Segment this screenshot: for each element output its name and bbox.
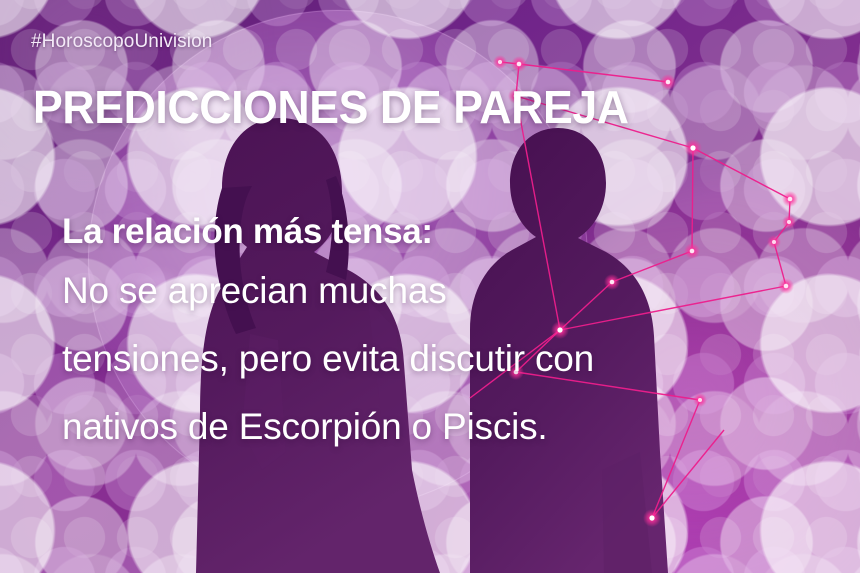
prediction-body: No se aprecian muchas tensiones, pero ev… (62, 257, 852, 461)
prediction-line: nativos de Escorpión o Piscis. (62, 393, 852, 461)
hashtag-label: #HoroscopoUnivision (31, 31, 212, 53)
prediction-line: tensiones, pero evita discutir con (62, 325, 852, 393)
prediction-lead-label: La relación más tensa: (62, 214, 852, 249)
horoscope-card: #HoroscopoUnivision PREDICCIONES DE PARE… (0, 0, 860, 573)
prediction-line: No se aprecian muchas (62, 257, 852, 325)
prediction-text-block: La relación más tensa: No se aprecian mu… (62, 214, 852, 461)
page-title: PREDICCIONES DE PAREJA (33, 84, 629, 130)
